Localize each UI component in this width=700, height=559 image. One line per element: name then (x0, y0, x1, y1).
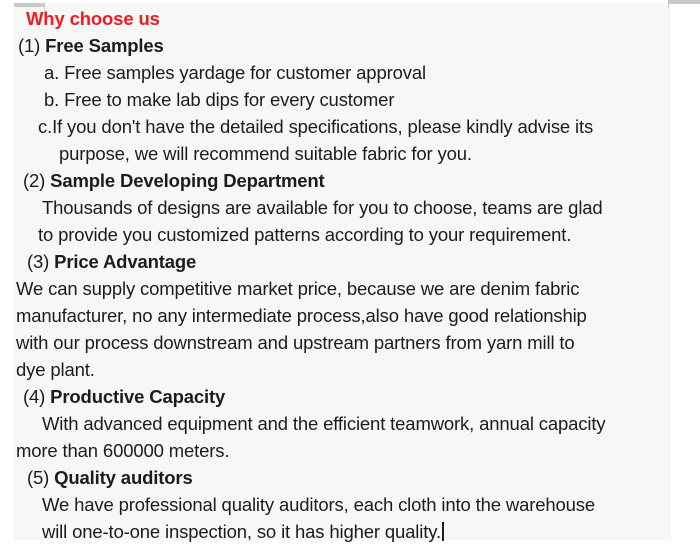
section-1-line-c: c.If you don't have the detailed specifi… (14, 113, 671, 140)
section-5-line-2-text: will one-to-one inspection, so it has hi… (42, 521, 441, 542)
section-2-line-2: to provide you customized patterns accor… (14, 221, 671, 248)
document-text-body: Why choose us (1) Free Samples a. Free s… (14, 3, 671, 545)
section-heading-2: (2) Sample Developing Department (14, 167, 671, 194)
section-number-2: (2) (23, 170, 50, 191)
section-5-line-2: will one-to-one inspection, so it has hi… (14, 518, 671, 545)
section-5-line-1: We have professional quality auditors, e… (14, 491, 671, 518)
section-number-4: (4) (23, 386, 50, 407)
section-title-3: Price Advantage (54, 251, 196, 272)
section-heading-5: (5) Quality auditors (14, 464, 671, 491)
section-3-line-2: manufacturer, no any intermediate proces… (14, 302, 671, 329)
document-root: Why choose us (1) Free Samples a. Free s… (0, 0, 700, 559)
section-heading-4: (4) Productive Capacity (14, 383, 671, 410)
section-4-line-2: more than 600000 meters. (14, 437, 671, 464)
section-title-1: Free Samples (45, 35, 164, 56)
section-number-3: (3) (27, 251, 54, 272)
page-title: Why choose us (14, 5, 671, 32)
section-3-line-4: dye plant. (14, 356, 671, 383)
section-3-line-3: with our process downstream and upstream… (14, 329, 671, 356)
section-4-line-1: With advanced equipment and the efficien… (14, 410, 671, 437)
section-number-5: (5) (27, 467, 54, 488)
table-handle-top-right-icon (668, 0, 700, 4)
section-title-4: Productive Capacity (50, 386, 225, 407)
section-heading-1: (1) Free Samples (14, 32, 671, 59)
section-1-line-c-cont: purpose, we will recommend suitable fabr… (14, 140, 671, 167)
section-title-2: Sample Developing Department (50, 170, 324, 191)
text-caret (442, 522, 444, 541)
section-1-line-a: a. Free samples yardage for customer app… (14, 59, 671, 86)
text-cell[interactable]: Why choose us (1) Free Samples a. Free s… (14, 3, 671, 540)
section-3-line-1: We can supply competitive market price, … (14, 275, 671, 302)
table-handle-tick-right-icon (668, 0, 669, 8)
section-number-1: (1) (18, 35, 45, 56)
section-1-line-b: b. Free to make lab dips for every custo… (14, 86, 671, 113)
section-heading-3: (3) Price Advantage (14, 248, 671, 275)
section-title-5: Quality auditors (54, 467, 192, 488)
section-2-line-1: Thousands of designs are available for y… (14, 194, 671, 221)
